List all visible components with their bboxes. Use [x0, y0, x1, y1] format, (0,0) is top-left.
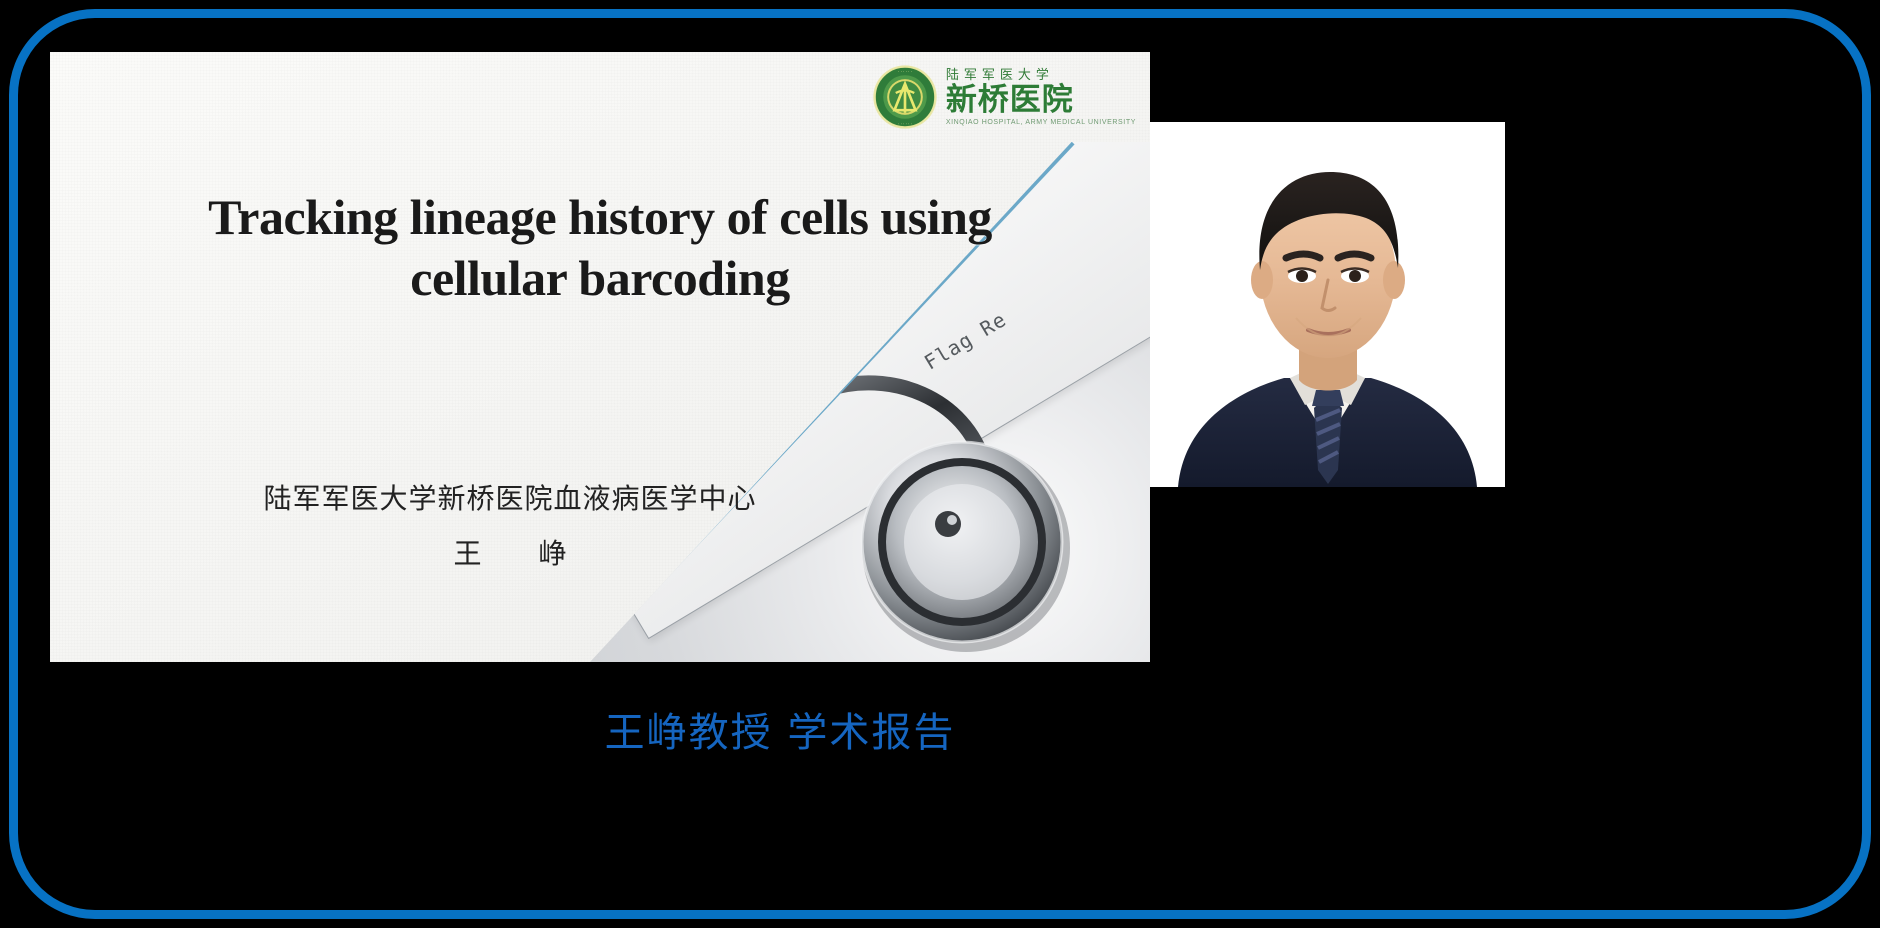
- svg-text:· · · · · ·: · · · · · ·: [898, 121, 912, 126]
- speaker-portrait-image: [1150, 122, 1505, 487]
- speaker-portrait[interactable]: [1150, 122, 1505, 487]
- slide-title: Tracking lineage history of cells using …: [50, 187, 1150, 309]
- stethoscope-icon: [770, 372, 1150, 662]
- hospital-logo: · · · · · · · · · · · · 陆军军医大学 新桥医院 XINQ…: [872, 64, 1136, 130]
- slide-title-line-1: Tracking lineage history of cells using: [50, 187, 1150, 248]
- speaker-caption: 王峥教授 学术报告: [0, 700, 1560, 758]
- presentation-stage: 910 Flag Re Abnormal: [0, 0, 1880, 928]
- presentation-slide[interactable]: 910 Flag Re Abnormal: [50, 52, 1150, 662]
- hospital-wordmark: 陆军军医大学 新桥医院 XINQIAO HOSPITAL, ARMY MEDIC…: [946, 69, 1136, 126]
- slide-presenter-name: 王 峥: [110, 532, 910, 572]
- logo-hospital-name: 新桥医院: [946, 85, 1136, 116]
- logo-english-subtitle: XINQIAO HOSPITAL, ARMY MEDICAL UNIVERSIT…: [946, 119, 1136, 126]
- svg-text:· · · · · ·: · · · · · ·: [898, 69, 912, 74]
- logo-university-name: 陆军军医大学: [946, 69, 1136, 82]
- slide-affiliation: 陆军军医大学新桥医院血液病医学中心: [110, 477, 910, 517]
- hospital-emblem-icon: · · · · · · · · · · · ·: [872, 64, 938, 130]
- slide-title-line-2: cellular barcoding: [50, 248, 1150, 309]
